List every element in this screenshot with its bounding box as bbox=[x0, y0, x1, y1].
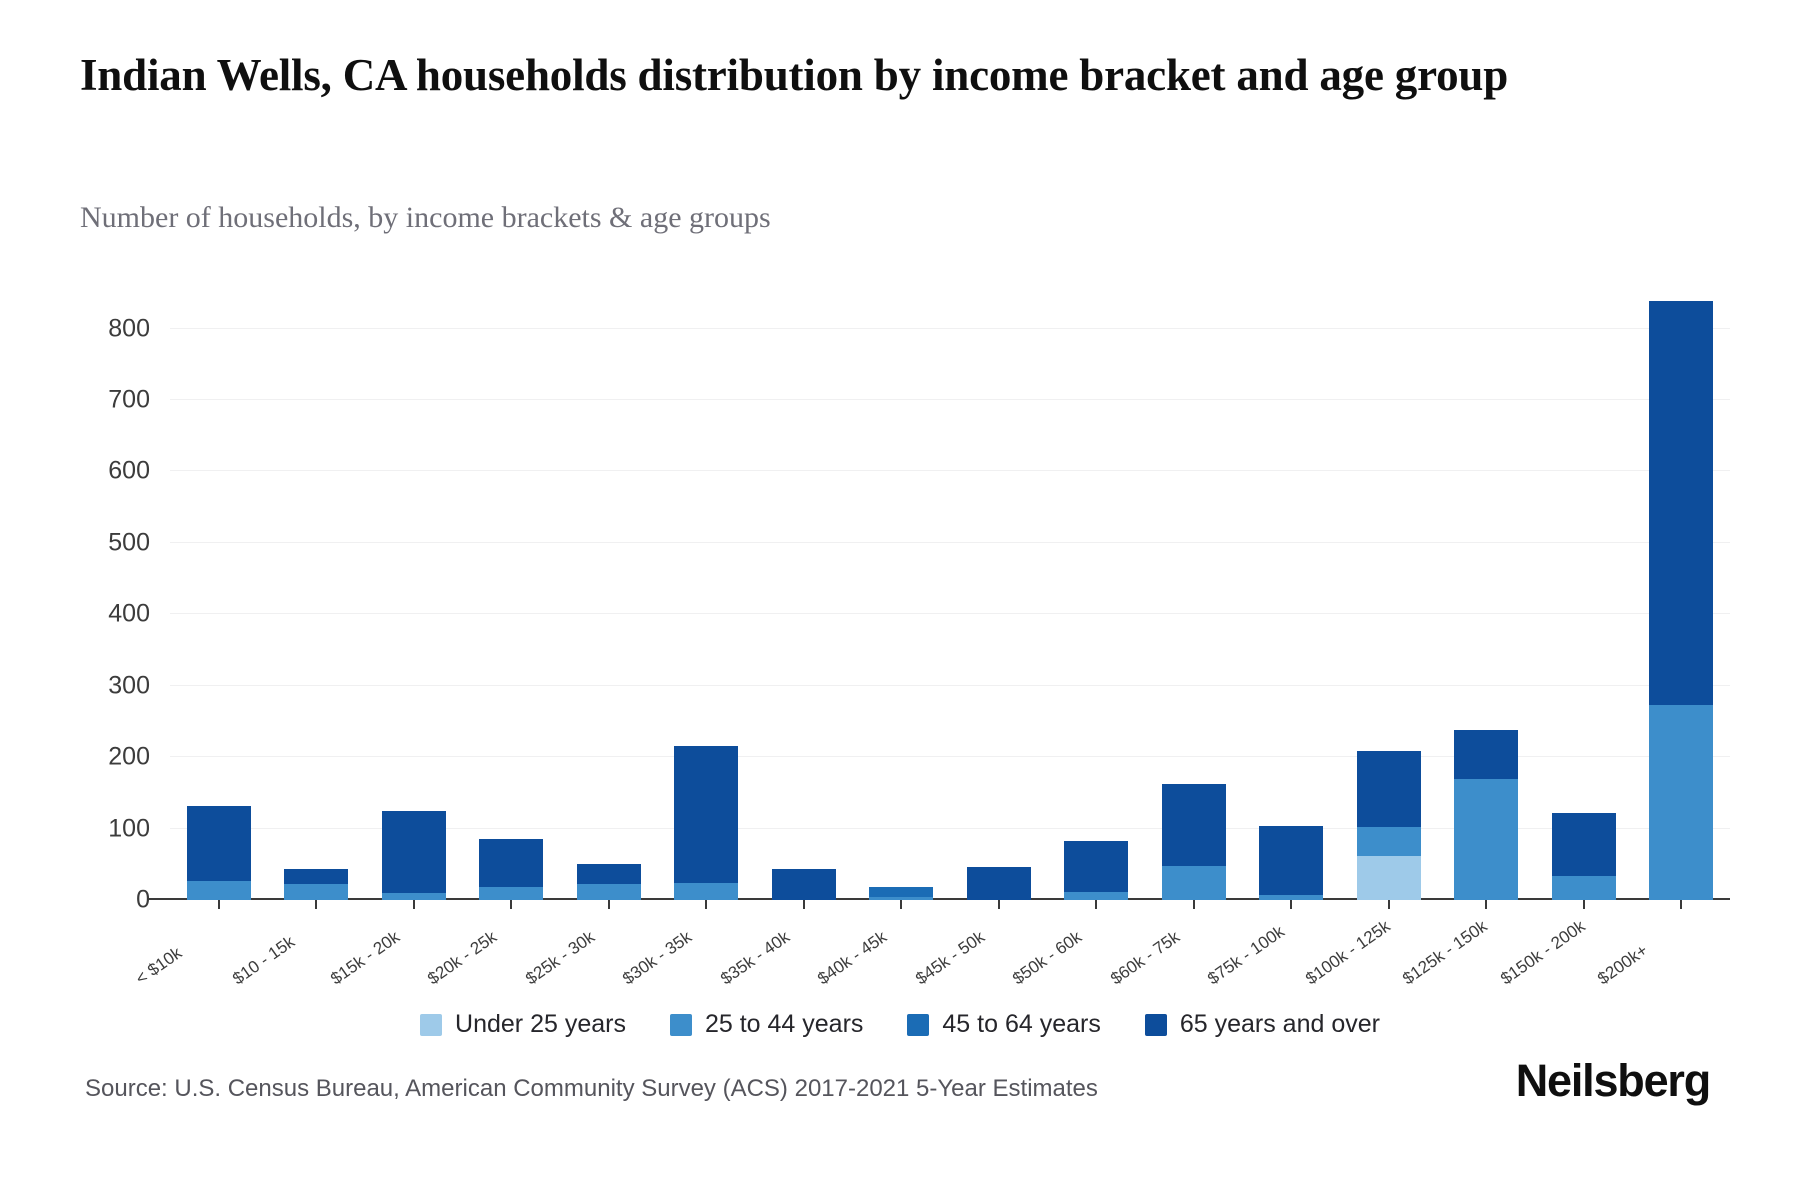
bar-segment[interactable] bbox=[1357, 751, 1421, 827]
x-tick-label: $30k - 35k bbox=[619, 927, 696, 989]
bar-segment[interactable] bbox=[1454, 730, 1518, 779]
x-tick-label: $60k - 75k bbox=[1107, 927, 1184, 989]
bar-stack[interactable] bbox=[479, 839, 543, 900]
bar-stack[interactable] bbox=[382, 811, 446, 900]
x-tick-label: $25k - 30k bbox=[522, 927, 599, 989]
bar-segment[interactable] bbox=[1357, 827, 1421, 856]
x-tick-label: $35k - 40k bbox=[717, 927, 794, 989]
chart-legend: Under 25 years25 to 44 years45 to 64 yea… bbox=[0, 1010, 1800, 1039]
x-tick-mark bbox=[705, 900, 707, 909]
bar-segment[interactable] bbox=[284, 884, 348, 900]
brand-logo: Neilsberg bbox=[1516, 1055, 1710, 1107]
y-tick-label: 200 bbox=[108, 743, 150, 772]
x-tick-mark bbox=[1583, 900, 1585, 909]
bar-segment[interactable] bbox=[479, 887, 543, 900]
bar-segment[interactable] bbox=[967, 867, 1031, 900]
x-tick-mark bbox=[413, 900, 415, 909]
x-tick-mark bbox=[1680, 900, 1682, 909]
bar-stack[interactable] bbox=[1649, 301, 1713, 900]
bar-stack[interactable] bbox=[674, 746, 738, 900]
x-tick-mark bbox=[1095, 900, 1097, 909]
bar-stack[interactable] bbox=[1064, 841, 1128, 900]
bar-segment[interactable] bbox=[1064, 892, 1128, 900]
bar-segment[interactable] bbox=[187, 881, 251, 900]
legend-label: 45 to 64 years bbox=[942, 1010, 1100, 1039]
x-tick-label: $50k - 60k bbox=[1009, 927, 1086, 989]
x-tick-mark bbox=[1193, 900, 1195, 909]
x-tick-mark bbox=[1485, 900, 1487, 909]
bar-stack[interactable] bbox=[869, 887, 933, 900]
legend-swatch-icon bbox=[907, 1014, 929, 1036]
bar-segment[interactable] bbox=[577, 864, 641, 884]
x-tick-mark bbox=[803, 900, 805, 909]
x-tick-label: $100k - 125k bbox=[1302, 916, 1394, 989]
bar-segment[interactable] bbox=[382, 811, 446, 892]
bar-stack[interactable] bbox=[1454, 730, 1518, 900]
x-tick-label: $150k - 200k bbox=[1497, 916, 1589, 989]
legend-item[interactable]: Under 25 years bbox=[420, 1010, 626, 1039]
x-tick-label: $40k - 45k bbox=[814, 927, 891, 989]
x-tick-label: $20k - 25k bbox=[424, 927, 501, 989]
x-tick-mark bbox=[900, 900, 902, 909]
legend-label: 65 years and over bbox=[1180, 1010, 1380, 1039]
bar-segment[interactable] bbox=[382, 893, 446, 900]
bar-segment[interactable] bbox=[284, 869, 348, 883]
x-tick-label: < $10k bbox=[132, 943, 186, 989]
bar-segment[interactable] bbox=[1552, 813, 1616, 877]
x-tick-mark bbox=[510, 900, 512, 909]
bar-series-layer bbox=[170, 300, 1730, 900]
x-tick-mark bbox=[218, 900, 220, 909]
bar-segment[interactable] bbox=[674, 883, 738, 900]
bar-stack[interactable] bbox=[1162, 784, 1226, 900]
bar-segment[interactable] bbox=[869, 887, 933, 897]
bar-stack[interactable] bbox=[284, 869, 348, 900]
plot-area: 0100200300400500600700800 < $10k$10 - 15… bbox=[170, 300, 1730, 900]
x-tick-label: $200k+ bbox=[1594, 941, 1652, 990]
bar-segment[interactable] bbox=[674, 746, 738, 882]
bar-segment[interactable] bbox=[479, 839, 543, 888]
bar-segment[interactable] bbox=[772, 869, 836, 900]
legend-item[interactable]: 45 to 64 years bbox=[907, 1010, 1100, 1039]
legend-swatch-icon bbox=[1145, 1014, 1167, 1036]
page-title: Indian Wells, CA households distribution… bbox=[80, 48, 1700, 104]
bar-segment[interactable] bbox=[1649, 705, 1713, 900]
bar-stack[interactable] bbox=[1552, 813, 1616, 900]
source-note: Source: U.S. Census Bureau, American Com… bbox=[85, 1075, 1098, 1103]
chart-container: Indian Wells, CA households distribution… bbox=[0, 0, 1800, 1200]
y-tick-label: 600 bbox=[108, 457, 150, 486]
bar-segment[interactable] bbox=[1357, 856, 1421, 900]
x-tick-mark bbox=[1290, 900, 1292, 909]
y-tick-label: 500 bbox=[108, 528, 150, 557]
bar-segment[interactable] bbox=[1552, 876, 1616, 900]
legend-swatch-icon bbox=[420, 1014, 442, 1036]
x-tick-label: $10 - 15k bbox=[229, 932, 299, 989]
legend-label: 25 to 44 years bbox=[705, 1010, 863, 1039]
legend-label: Under 25 years bbox=[455, 1010, 626, 1039]
y-tick-label: 100 bbox=[108, 814, 150, 843]
x-tick-mark bbox=[608, 900, 610, 909]
bar-segment[interactable] bbox=[1454, 779, 1518, 900]
x-tick-label: $75k - 100k bbox=[1204, 922, 1288, 989]
bar-stack[interactable] bbox=[967, 867, 1031, 900]
y-tick-label: 400 bbox=[108, 600, 150, 629]
legend-item[interactable]: 25 to 44 years bbox=[670, 1010, 863, 1039]
bar-segment[interactable] bbox=[1064, 841, 1128, 892]
x-tick-mark bbox=[998, 900, 1000, 909]
bar-stack[interactable] bbox=[1357, 751, 1421, 900]
x-tick-label: $45k - 50k bbox=[912, 927, 989, 989]
bar-segment[interactable] bbox=[1259, 826, 1323, 895]
x-tick-label: $125k - 150k bbox=[1399, 916, 1491, 989]
y-tick-label: 800 bbox=[108, 314, 150, 343]
x-tick-mark bbox=[1388, 900, 1390, 909]
legend-item[interactable]: 65 years and over bbox=[1145, 1010, 1380, 1039]
bar-stack[interactable] bbox=[577, 864, 641, 900]
legend-swatch-icon bbox=[670, 1014, 692, 1036]
bar-segment[interactable] bbox=[577, 884, 641, 900]
y-tick-label: 700 bbox=[108, 386, 150, 415]
y-tick-label: 300 bbox=[108, 671, 150, 700]
bar-segment[interactable] bbox=[187, 806, 251, 880]
bar-segment[interactable] bbox=[1162, 866, 1226, 900]
bar-segment[interactable] bbox=[1649, 301, 1713, 705]
bar-segment[interactable] bbox=[1162, 784, 1226, 866]
bar-stack[interactable] bbox=[772, 869, 836, 900]
bar-stack[interactable] bbox=[1259, 826, 1323, 900]
x-tick-label: $15k - 20k bbox=[327, 927, 404, 989]
chart-subtitle: Number of households, by income brackets… bbox=[80, 200, 1480, 236]
bar-stack[interactable] bbox=[187, 806, 251, 900]
y-tick-label: 0 bbox=[136, 886, 150, 915]
x-tick-mark bbox=[315, 900, 317, 909]
